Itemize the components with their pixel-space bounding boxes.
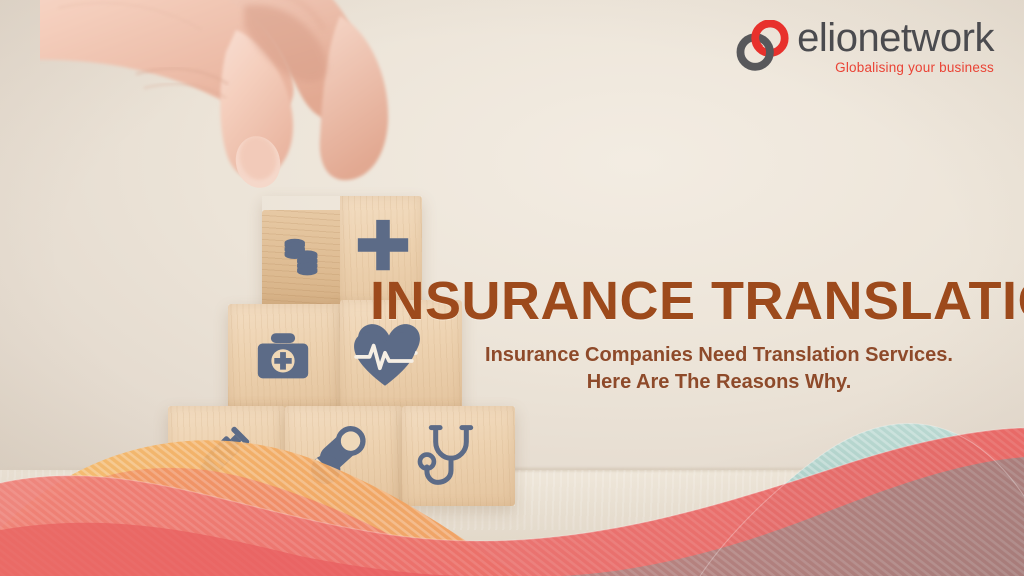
heart-pulse-icon-overlay [352,329,418,391]
block-first-aid [228,304,346,408]
coins-stack-icon [276,234,326,284]
logo-wordmark: elionetwork [797,18,994,59]
logo-tagline: Globalising your business [835,60,994,75]
first-aid-kit-icon [252,326,314,388]
subheadline-line-1: Insurance Companies Need Translation Ser… [418,342,1020,369]
page-title: INSURANCE TRANSLATIONS [370,274,1020,328]
headline-group: INSURANCE TRANSLATIONS Insurance Compani… [370,274,1020,396]
subheadline: Insurance Companies Need Translation Ser… [370,342,1020,396]
hand-placing-block [40,0,460,236]
block-first-aid-face [228,304,346,408]
logo-text-group: elionetwork Globalising your business [797,18,994,75]
insurance-translations-banner: INSURANCE TRANSLATIONS Insurance Compani… [0,0,1024,576]
decorative-wave-graphic [0,396,1024,576]
brand-logo[interactable]: elionetwork Globalising your business [735,18,994,75]
subheadline-line-2: Here Are The Reasons Why. [418,369,1020,396]
two-interlocking-rings-icon [735,20,791,72]
